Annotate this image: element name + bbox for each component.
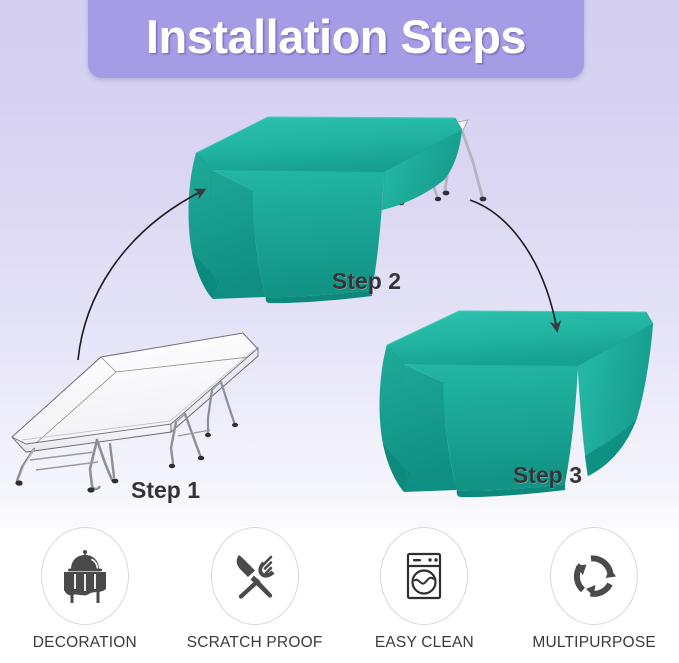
feature-decoration-label: DECORATION xyxy=(33,634,137,652)
feature-easy-clean-label: EASY CLEAN xyxy=(375,634,474,652)
feature-row: DECORATION SCRATCH PROOF xyxy=(0,527,679,663)
feature-scratch-proof: SCRATCH PROOF xyxy=(172,527,338,652)
feature-easy-clean-circle xyxy=(380,527,468,625)
step-1-label: Step 1 xyxy=(131,477,200,504)
title-banner: Installation Steps xyxy=(88,0,584,78)
feature-easy-clean: EASY CLEAN xyxy=(341,527,507,652)
feature-scratch-proof-label: SCRATCH PROOF xyxy=(187,634,323,652)
arrow-step2-to-step3 xyxy=(470,200,557,330)
feature-decoration-circle xyxy=(41,527,129,625)
step-1-illustration xyxy=(12,333,258,493)
step-2-label: Step 2 xyxy=(332,268,401,295)
recycle-arrows-icon xyxy=(563,545,625,607)
feature-multipurpose-label: MULTIPURPOSE xyxy=(532,634,656,652)
installation-steps-infographic: Installation Steps xyxy=(0,0,679,663)
table-cloche-icon xyxy=(54,545,116,607)
feature-multipurpose: MULTIPURPOSE xyxy=(511,527,677,652)
knife-fork-icon xyxy=(224,545,286,607)
step-3-label: Step 3 xyxy=(513,462,582,489)
page-title: Installation Steps xyxy=(88,0,584,78)
feature-multipurpose-circle xyxy=(550,527,638,625)
arrow-step1-to-step2 xyxy=(78,190,204,360)
washing-machine-icon xyxy=(393,545,455,607)
feature-decoration: DECORATION xyxy=(2,527,168,652)
feature-scratch-proof-circle xyxy=(211,527,299,625)
